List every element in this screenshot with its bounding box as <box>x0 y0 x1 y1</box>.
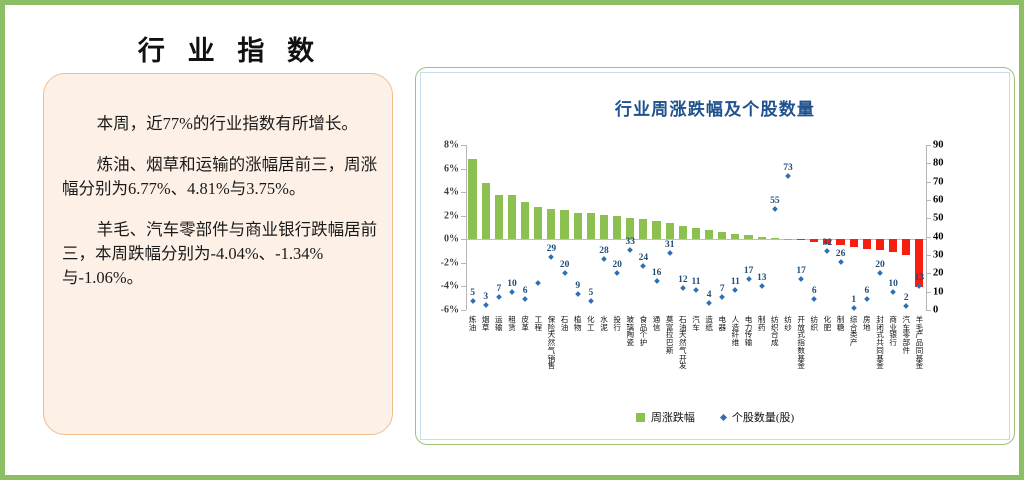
chart-card-inner: 行业周涨跌幅及个股数量 -6%-4%-2%0%2%4%6%8%010203040… <box>420 72 1010 440</box>
chart-bar <box>639 219 647 239</box>
x-axis-category-label: 商业银行 <box>889 316 897 347</box>
x-axis-category-label: 开放式指数基金 <box>797 316 805 370</box>
y-axis-tick-label: -6% <box>441 305 459 316</box>
y2-axis-tick <box>926 182 931 183</box>
chart-data-label: 5 <box>588 288 593 298</box>
summary-paragraph-1: 本周，近77%的行业指数有所增长。 <box>62 112 378 136</box>
x-axis-category-label: 投行 <box>613 316 621 331</box>
page-title: 行 业 指 数 <box>65 29 395 68</box>
x-axis-category-label: 运输 <box>495 316 503 331</box>
chart-data-point <box>654 278 660 284</box>
x-axis-category-label: 人造纤维 <box>732 316 740 347</box>
chart-bar <box>613 216 621 239</box>
chart-data-point <box>864 296 870 302</box>
chart-data-point <box>759 283 765 289</box>
y-axis-tick <box>461 216 466 217</box>
chart-title: 行业周涨跌幅及个股数量 <box>421 95 1009 120</box>
y2-axis-tick <box>926 218 931 219</box>
chart-bar <box>731 234 739 240</box>
chart-data-point <box>667 250 673 256</box>
chart-data-label: 12 <box>678 275 688 285</box>
chart-bar <box>705 230 713 239</box>
chart-bar <box>587 213 595 239</box>
chart-data-point <box>575 291 581 297</box>
x-axis-category-label: 保险天然气销售 <box>548 316 556 370</box>
y2-axis-tick-label: 30 <box>933 250 944 261</box>
chart-bar <box>850 239 858 247</box>
chart-data-label: 20 <box>560 260 570 270</box>
chart-data-label: 32 <box>823 238 833 248</box>
chart-data-point <box>798 276 804 282</box>
x-axis-category-label: 化工 <box>587 316 595 331</box>
x-axis-category-label: 制药 <box>758 316 766 331</box>
x-axis-category-labels: 炼油烟草运输租赁皮革工程保险天然气销售石油植物化工水泥投行玻璃陶瓷食品个护通信莫… <box>466 316 926 411</box>
y2-axis-tick <box>926 237 931 238</box>
chart-bar <box>889 239 897 251</box>
chart-data-point <box>680 285 686 291</box>
chart-bar <box>521 202 529 239</box>
chart-data-point <box>733 287 739 293</box>
chart-data-point <box>535 280 541 286</box>
x-axis-category-label: 制糖 <box>837 316 845 331</box>
x-axis-category-label: 综合类产 <box>850 316 858 347</box>
chart-data-label: 13 <box>757 273 767 283</box>
x-axis-category-label: 汽车零部件 <box>902 316 910 355</box>
chart-data-point <box>851 305 857 311</box>
x-axis-category-label: 水泥 <box>600 316 608 331</box>
y-axis-tick-label: 2% <box>444 210 459 221</box>
y-axis-tick <box>461 145 466 146</box>
y-axis-tick-label: -4% <box>441 281 459 292</box>
chart-bar <box>652 221 660 239</box>
chart-bar <box>797 239 805 240</box>
chart-data-label: 29 <box>547 244 557 254</box>
summary-text: 本周，近77%的行业指数有所增长。 炼油、烟草和运输的涨幅居前三，周涨幅分别为6… <box>62 112 378 290</box>
y-axis-tick-label: 0% <box>444 234 459 245</box>
x-axis-category-label: 封闭式共同基金 <box>876 316 884 370</box>
x-axis-category-label: 炼油 <box>469 316 477 331</box>
chart-data-point <box>483 302 489 308</box>
chart-data-point <box>811 296 817 302</box>
chart-data-point <box>627 247 633 253</box>
y2-axis-tick-label: 60 <box>933 195 944 206</box>
y-axis-tick-label: -2% <box>441 257 459 268</box>
chart-data-point <box>549 254 555 260</box>
chart-bar <box>758 237 766 240</box>
x-axis-category-label: 莫富拉巴斯 <box>666 316 674 355</box>
y2-axis-tick-label: 90 <box>933 140 944 151</box>
chart-data-point <box>496 294 502 300</box>
chart-bar <box>876 239 884 250</box>
chart-data-point <box>877 270 883 276</box>
chart-data-point <box>522 296 528 302</box>
chart-data-label: 17 <box>796 266 806 276</box>
chart-data-point <box>719 294 725 300</box>
x-axis-category-label: 羊毛产品同基金 <box>916 316 924 370</box>
legend-item-bar: 周涨跌幅 <box>636 409 695 425</box>
x-axis-category-label: 石油 <box>561 316 569 331</box>
x-axis-category-label: 纺纱 <box>784 316 792 331</box>
y2-axis-tick-label: 40 <box>933 231 944 242</box>
x-axis-category-label: 食品个护 <box>640 316 648 347</box>
y2-axis-tick <box>926 273 931 274</box>
x-axis-category-label: 石油天然气开发 <box>679 316 687 370</box>
y-axis-tick <box>461 192 466 193</box>
chart-bar <box>482 183 490 240</box>
chart-data-label: 26 <box>836 249 846 259</box>
chart-data-point <box>838 259 844 265</box>
chart-bar <box>600 215 608 239</box>
y2-axis-tick-label: 70 <box>933 176 944 187</box>
chart-data-label: 11 <box>731 277 740 287</box>
chart-data-point <box>746 276 752 282</box>
chart-data-point <box>772 206 778 212</box>
chart-bar <box>810 239 818 242</box>
chart-data-point <box>614 270 620 276</box>
chart-data-label: 28 <box>599 246 609 256</box>
y-axis-tick <box>461 286 466 287</box>
y2-axis-tick-label: 20 <box>933 268 944 279</box>
chart-data-point <box>903 303 909 309</box>
y2-axis-tick <box>926 200 931 201</box>
y-axis-tick <box>461 263 466 264</box>
chart-data-label: 6 <box>523 286 528 296</box>
y2-axis-tick-label: 10 <box>933 286 944 297</box>
y-axis-tick-label: 8% <box>444 140 459 151</box>
chart-bar <box>574 213 582 240</box>
summary-paragraph-2: 炼油、烟草和运输的涨幅居前三，周涨幅分别为6.77%、4.81%与3.75%。 <box>62 153 378 201</box>
chart-data-label: 4 <box>707 290 712 300</box>
y2-axis-tick <box>926 145 931 146</box>
chart-data-point <box>641 263 647 269</box>
chart-data-point <box>890 289 896 295</box>
chart-data-label: 6 <box>864 286 869 296</box>
x-axis-category-label: 电力传输 <box>745 316 753 347</box>
chart-data-label: 13 <box>915 273 925 283</box>
y-axis-left <box>466 145 467 310</box>
chart-bar <box>771 238 779 239</box>
chart-data-label: 17 <box>744 266 754 276</box>
x-axis-category-label: 纺织合成 <box>771 316 779 347</box>
chart-bar <box>495 195 503 239</box>
y-axis-tick-label: 4% <box>444 187 459 198</box>
chart-bar <box>902 239 910 255</box>
y2-axis-tick <box>926 163 931 164</box>
chart-data-label: 33 <box>626 237 636 247</box>
chart-data-label: 2 <box>904 293 909 303</box>
legend-bar-label: 周涨跌幅 <box>651 409 695 425</box>
y-axis-tick <box>461 169 466 170</box>
y2-axis-tick-label: 80 <box>933 158 944 169</box>
x-axis-category-label: 纺织 <box>810 316 818 331</box>
x-axis-category-label: 烟草 <box>482 316 490 331</box>
x-axis-category-label: 植物 <box>574 316 582 331</box>
chart-bar <box>836 239 844 245</box>
x-axis-category-label: 玻璃陶瓷 <box>626 316 634 347</box>
chart-bar <box>744 235 752 239</box>
slide: 行 业 指 数 本周，近77%的行业指数有所增长。 炼油、烟草和运输的涨幅居前三… <box>0 0 1024 480</box>
chart-bar <box>679 226 687 240</box>
y2-axis-tick-label: 0 <box>933 305 938 316</box>
x-axis-category-label: 造纸 <box>705 316 713 331</box>
legend-dot-label: 个股数量(股) <box>732 409 794 425</box>
summary-paragraph-3: 羊毛、汽车零部件与商业银行跌幅居前三，本周跌幅分别为-4.04%、-1.34%与… <box>62 218 378 290</box>
y-axis-right <box>926 145 927 310</box>
chart-bar <box>534 207 542 239</box>
chart-data-label: 7 <box>496 284 501 294</box>
chart-card: 行业周涨跌幅及个股数量 -6%-4%-2%0%2%4%6%8%010203040… <box>415 67 1015 445</box>
chart-plot-area: -6%-4%-2%0%2%4%6%8%010203040506070809053… <box>466 145 926 310</box>
x-axis-category-label: 租赁 <box>508 316 516 331</box>
chart-bar <box>692 228 700 239</box>
chart-bar <box>666 223 674 239</box>
chart-data-label: 10 <box>507 279 517 289</box>
chart-bar <box>508 195 516 239</box>
chart-data-label: 20 <box>612 260 622 270</box>
x-axis-category-label: 房地 <box>863 316 871 331</box>
chart-data-label: 11 <box>692 277 701 287</box>
x-axis-category-label: 工程 <box>534 316 542 331</box>
x-axis-category-label: 皮革 <box>521 316 529 331</box>
legend-square-icon <box>636 413 645 422</box>
chart-data-point <box>825 248 831 254</box>
x-axis-category-label: 通信 <box>653 316 661 331</box>
legend-item-dot: 个股数量(股) <box>721 409 794 425</box>
summary-callout: 本周，近77%的行业指数有所增长。 炼油、烟草和运输的涨幅居前三，周涨幅分别为6… <box>43 73 393 435</box>
chart-data-label: 16 <box>652 268 662 278</box>
chart-data-label: 9 <box>575 281 580 291</box>
chart-legend: 周涨跌幅 个股数量(股) <box>421 409 1009 425</box>
chart-data-point <box>693 287 699 293</box>
chart-data-label: 3 <box>483 292 488 302</box>
chart-data-point <box>601 256 607 262</box>
chart-data-label: 7 <box>720 284 725 294</box>
chart-data-label: 20 <box>875 260 885 270</box>
chart-data-label: 73 <box>783 163 793 173</box>
y2-axis-tick <box>926 255 931 256</box>
y2-axis-tick <box>926 292 931 293</box>
y-axis-tick <box>461 310 466 311</box>
chart-data-point <box>706 300 712 306</box>
chart-data-point <box>588 298 594 304</box>
chart-bar <box>468 159 476 239</box>
chart-data-label: 6 <box>812 286 817 296</box>
chart-data-label: 24 <box>639 253 649 263</box>
chart-data-label: 31 <box>665 240 675 250</box>
y2-axis-tick <box>926 310 931 311</box>
chart-bar <box>560 210 568 239</box>
chart-data-label: 55 <box>770 196 780 206</box>
chart-data-point <box>509 289 515 295</box>
chart-bar <box>784 239 792 240</box>
x-axis-category-label: 电器 <box>718 316 726 331</box>
chart-data-point <box>562 270 568 276</box>
chart-bar <box>863 239 871 248</box>
x-axis-category-label: 汽车 <box>692 316 700 331</box>
chart-data-point <box>470 298 476 304</box>
chart-data-point <box>785 173 791 179</box>
x-axis-category-label: 化肥 <box>824 316 832 331</box>
chart-bar <box>547 209 555 239</box>
chart-data-label: 10 <box>888 279 898 289</box>
chart-data-label: 5 <box>470 288 475 298</box>
y2-axis-tick-label: 50 <box>933 213 944 224</box>
chart-data-label: 1 <box>851 295 856 305</box>
chart-bar <box>718 232 726 239</box>
y-axis-tick-label: 6% <box>444 163 459 174</box>
legend-diamond-icon <box>720 413 727 420</box>
